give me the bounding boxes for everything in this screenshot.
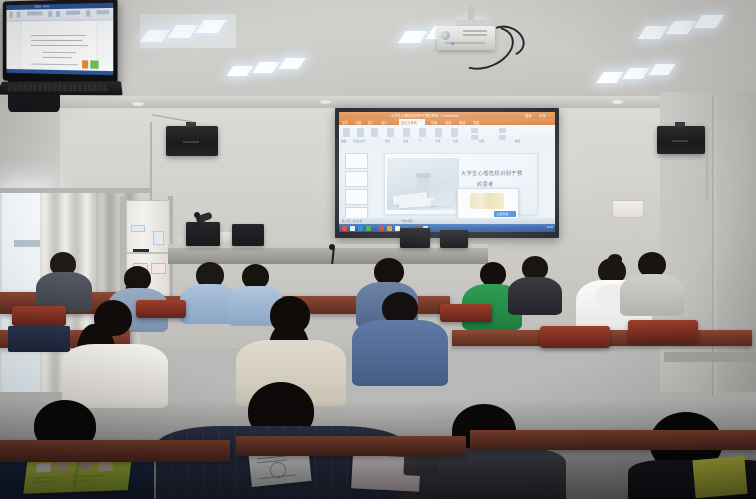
status-language: 中文(中国)	[401, 219, 413, 223]
status-slide-count: 第 1 张，共 30 张	[342, 219, 362, 223]
chair-1	[12, 306, 66, 326]
cabinet-divider	[126, 252, 168, 254]
attendee-row3-blue-shirt	[352, 292, 448, 384]
cabinet-label-1	[131, 225, 145, 232]
ribbon-label-drawing[interactable]: 绘图	[479, 139, 484, 143]
monitor-center	[232, 224, 264, 246]
downlight-2	[320, 100, 331, 104]
ppt-title-text: 大学生心理危机识别干预的思考 - PowerPoint	[391, 113, 459, 118]
ribbon-label-reset[interactable]: 重设	[403, 139, 408, 143]
baseboard	[664, 352, 756, 362]
ppt-titlebar: 大学生心理危机识别干预的思考 - PowerPoint 登录 共享	[339, 112, 555, 119]
ribbon-label-paste[interactable]: 粘贴	[341, 139, 346, 143]
desk-mic-2-head	[329, 244, 335, 250]
attendee-body	[620, 274, 684, 316]
monitor-far-right	[440, 230, 468, 248]
attendee-row2-striped	[620, 252, 684, 312]
projector-indicator	[451, 42, 454, 45]
projection-screen: 大学生心理危机识别干预的思考 - PowerPoint 登录 共享 文件 开始 …	[339, 112, 555, 232]
taskbar-icon-4[interactable]	[366, 226, 371, 231]
monitor-left	[186, 222, 220, 246]
slide-subtitle: 的思考	[477, 181, 494, 188]
ribbon-label-font[interactable]: 字体	[435, 139, 440, 143]
downlight-3	[612, 100, 623, 104]
slide-thumbnail-2[interactable]	[345, 171, 368, 187]
popup-image	[470, 193, 504, 209]
wall-speaker-right: SPEAKER	[657, 126, 705, 154]
speaker-left-badge: SPEAKER	[183, 140, 199, 144]
ribbon-label-section[interactable]: 节	[419, 139, 422, 143]
ppt-share[interactable]: 共享	[539, 113, 546, 118]
ppt-slide-thumbnail-pane[interactable]	[339, 150, 372, 225]
speaker-left-conduit	[150, 122, 152, 202]
light-panel-far-right	[598, 58, 690, 88]
popup-button-label: 立即查看	[497, 212, 508, 216]
taskbar-icon-2[interactable]	[350, 226, 355, 231]
slide-thumbnail-3[interactable]	[345, 189, 368, 205]
speaker-right-conduit	[706, 128, 708, 202]
slide-thumbnail-1[interactable]	[345, 153, 368, 169]
desk-foreground-center	[236, 436, 466, 456]
attendee-head	[374, 258, 404, 285]
taskbar-icon-6[interactable]	[387, 226, 392, 231]
ppt-signin[interactable]: 登录	[525, 113, 532, 118]
attendee-body	[508, 277, 562, 315]
wall-corner	[712, 96, 716, 396]
light-panel-left	[140, 14, 236, 48]
word-highlight-marker	[90, 60, 98, 68]
ppt-ribbon: 粘贴 新建幻灯片 版式 重设 节 字体 段落 绘图 编辑	[339, 125, 555, 151]
laptop-keyboard[interactable]	[7, 84, 109, 91]
popup-action-button[interactable]: 立即查看	[494, 211, 516, 217]
ribbon-label-editing[interactable]: 编辑	[515, 139, 520, 143]
desk-mic-1-head	[194, 212, 200, 218]
taskbar-icon-1[interactable]	[342, 226, 347, 231]
taskbar-icon-3[interactable]	[358, 226, 363, 231]
cabinet-label-2	[153, 231, 164, 245]
attendee-row3-white-top	[60, 300, 170, 406]
light-panel-center-left	[228, 52, 318, 82]
ribbon-label-layout[interactable]: 版式	[385, 139, 390, 143]
projector-lens	[441, 31, 450, 40]
ribbon-label-newslide[interactable]: 新建幻灯片	[353, 139, 366, 143]
laptop-screen[interactable]: 文档1 - Word	[6, 3, 113, 76]
light-panel-right	[640, 10, 740, 44]
attendee-row2-dark	[508, 256, 562, 312]
ribbon-label-paragraph[interactable]: 段落	[453, 139, 458, 143]
wall-speaker-left: SPEAKER	[166, 126, 218, 156]
popup-dialog[interactable]: 立即查看	[457, 188, 519, 220]
word-orange-marker	[82, 60, 88, 68]
curtain-rod	[0, 188, 150, 193]
ac-control-panel[interactable]	[612, 200, 644, 218]
word-ribbon	[6, 8, 113, 22]
chair-5	[628, 320, 698, 342]
speaker-right-badge: SPEAKER	[672, 139, 688, 143]
yellow-folder	[692, 456, 747, 498]
chair-4	[540, 326, 610, 348]
desk-foreground-left	[0, 440, 230, 462]
taskbar-clock: 10:42	[547, 226, 554, 229]
taskbar-icon-5[interactable]	[379, 226, 384, 231]
slide-photo	[387, 158, 459, 210]
slide-title: 大学生心理危机识别干预	[461, 170, 522, 177]
classroom-photo: SPEAKER SPEAKER 大学生心理危机识别干预的思考 - PowerPo…	[0, 0, 756, 499]
monitor-right	[400, 228, 430, 248]
desk-foreground-right	[470, 430, 756, 450]
ppt-slide-stage: 大学生心理危机识别干预 的思考 主讲人 心理健康教育中心 工作台 立即查看	[371, 150, 555, 218]
attendee-body	[62, 344, 168, 408]
attendee-body	[352, 320, 448, 386]
